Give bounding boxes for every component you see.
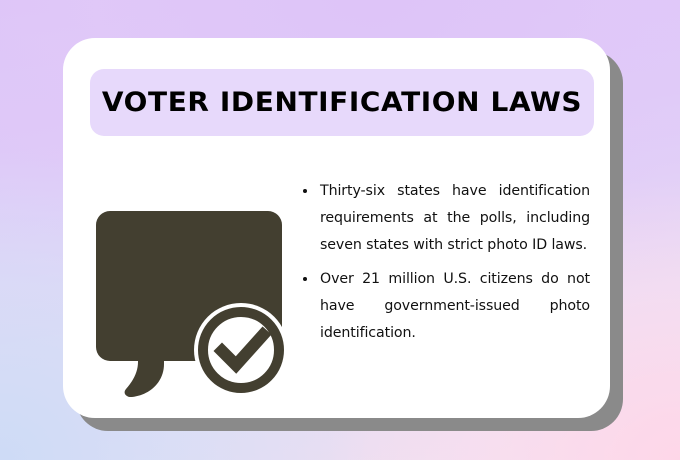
list-item-text: Thirty-six states have identification re…	[320, 183, 590, 253]
content-card: VOTER IDENTIFICATION LAWS Thirty-six sta…	[63, 38, 610, 418]
list-item: Thirty-six states have identification re…	[300, 178, 590, 259]
bullet-dot-icon	[303, 277, 307, 281]
list-item: Over 21 million U.S. citizens do not hav…	[300, 266, 590, 347]
title-badge: VOTER IDENTIFICATION LAWS	[90, 69, 594, 136]
list-item-text: Over 21 million U.S. citizens do not hav…	[320, 271, 590, 341]
badge-gap	[194, 303, 288, 397]
speech-bubble-check-icon	[88, 198, 298, 398]
bullet-dot-icon	[303, 189, 307, 193]
infographic-canvas: VOTER IDENTIFICATION LAWS Thirty-six sta…	[0, 0, 680, 460]
page-title: VOTER IDENTIFICATION LAWS	[102, 87, 582, 118]
facts-list: Thirty-six states have identification re…	[300, 178, 590, 347]
